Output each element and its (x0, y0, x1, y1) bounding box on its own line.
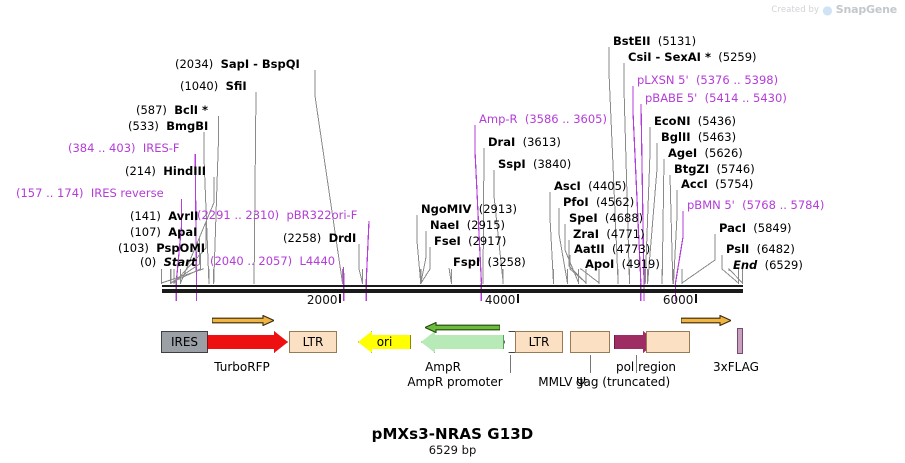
feature-name: SpeI (569, 211, 598, 225)
feature-position: (3840) (533, 157, 571, 171)
arrow-glyph-icon (212, 316, 274, 326)
enzyme-leader-line (674, 190, 677, 283)
enzyme-label-csii-sexai[interactable]: CsiI - SexAI * (5259) (628, 51, 757, 64)
ruler-line-upper (162, 285, 743, 287)
feature-name: HindIII (163, 164, 206, 178)
enzyme-leader-line (421, 231, 426, 283)
direction-arrow-right (681, 311, 731, 322)
feature-position: (5259) (718, 50, 756, 64)
feature-position: (587) (136, 103, 167, 117)
enzyme-leader-line (670, 175, 673, 283)
feature-ltr-right[interactable]: LTR (515, 331, 563, 353)
feature-name: PfoI (563, 195, 589, 209)
enzyme-label-hindiii[interactable]: (214) HindIII (125, 165, 206, 178)
enzyme-leader-line (315, 70, 343, 283)
feature-caption-connector (510, 355, 511, 373)
feature-name: IRES-F (143, 141, 180, 155)
ruler-tick (695, 294, 697, 303)
enzyme-label-asci[interactable]: AscI (4405) (554, 180, 626, 193)
feature-caption-ampr: AmpR (383, 360, 503, 374)
feature-name: AgeI (668, 146, 697, 160)
feature-position: (157 .. 174) (16, 186, 84, 200)
feature-name: pBMN 5' (687, 198, 735, 212)
enzyme-label-spei[interactable]: SpeI (4688) (569, 212, 643, 225)
primer-label-pbabe-5[interactable]: pBABE 5' (5414 .. 5430) (645, 92, 787, 105)
feature-position: (533) (128, 119, 159, 133)
feature-name: BtgZI (674, 162, 709, 176)
enzyme-label-avrii[interactable]: (141) AvrII (130, 210, 198, 223)
feature-ires[interactable]: IRES (161, 331, 208, 353)
feature-position: (2915) (467, 218, 505, 232)
feature-name: L4440 (299, 254, 335, 268)
primer-leader-line (366, 221, 369, 283)
feature-name: pLXSN 5' (637, 73, 689, 87)
enzyme-leader-line (559, 208, 567, 283)
feature-position: (384 .. 403) (68, 141, 136, 155)
page-title: pMXs3-NRAS G13D (0, 425, 905, 443)
feature-position: (214) (125, 164, 156, 178)
feature-name: ZraI (573, 227, 599, 241)
feature-position: (141) (130, 209, 161, 223)
feature-name: Amp-R (479, 112, 518, 126)
feature-name: SapI - BspQI (221, 57, 300, 71)
enzyme-label-start[interactable]: (0) Start (140, 256, 196, 269)
feature-position: (5768 .. 5784) (742, 198, 824, 212)
enzyme-leader-line (662, 159, 664, 283)
feature-3xflag[interactable] (737, 328, 743, 354)
enzyme-label-econi[interactable]: EcoNI (5436) (654, 115, 736, 128)
enzyme-leader-line (359, 244, 362, 283)
feature-position: (5746) (716, 162, 754, 176)
feature-caption-turborfp: TurboRFP (182, 360, 302, 374)
feature-position: (103) (118, 241, 149, 255)
feature-position: (2291 .. 2310) (197, 208, 279, 222)
enzyme-label-bcli[interactable]: (587) BclI * (136, 104, 208, 117)
feature-position: (3586 .. 3605) (525, 112, 607, 126)
enzyme-label-end[interactable]: End (6529) (733, 259, 803, 272)
enzyme-label-paci[interactable]: PacI (5849) (719, 222, 792, 235)
feature-name: BstEII (613, 34, 651, 48)
feature-name: Start (164, 255, 197, 269)
feature-position: (2913) (479, 202, 517, 216)
enzyme-label-apoi[interactable]: ApoI (4919) (585, 258, 660, 271)
feature-name: PslI (726, 242, 749, 256)
feature-position: (6482) (757, 242, 795, 256)
enzyme-label-acci[interactable]: AccI (5754) (681, 178, 753, 191)
feature-inline-label: IRES (171, 335, 198, 349)
enzyme-label-aatii[interactable]: AatII (4773) (574, 243, 650, 256)
feature-position: (5414 .. 5430) (705, 91, 787, 105)
enzyme-label-agei[interactable]: AgeI (5626) (668, 147, 743, 160)
enzyme-label-sfii[interactable]: (1040) SfiI (180, 80, 247, 93)
arrow-glyph-icon (681, 316, 731, 326)
enzyme-label-drdi[interactable]: (2258) DrdI (283, 232, 356, 245)
primer-label-ires-f[interactable]: (384 .. 403) IRES-F (68, 142, 180, 155)
enzyme-label-apai[interactable]: (107) ApaI (130, 226, 197, 239)
ruler-tick-label: 4000 (465, 293, 515, 307)
enzyme-label-drai[interactable]: DraI (3613) (488, 136, 561, 149)
enzyme-label-bsteii[interactable]: BstEII (5131) (613, 35, 696, 48)
feature-name: BclI * (174, 103, 208, 117)
feature-name: ApoI (585, 257, 614, 271)
feature-name: IRES reverse (91, 186, 164, 200)
feature-name: PacI (719, 221, 746, 235)
feature-position: (2040 .. 2057) (210, 254, 292, 268)
feature-name: DrdI (329, 231, 357, 245)
feature-name: AccI (681, 177, 708, 191)
feature-position: (5376 .. 5398) (696, 73, 778, 87)
enzyme-label-psli[interactable]: PslI (6482) (726, 243, 795, 256)
feature-position: (5754) (715, 177, 753, 191)
enzyme-leader-line (550, 192, 553, 283)
enzyme-label-naei[interactable]: NaeI (2915) (430, 219, 505, 232)
feature-name: BmgBI (166, 119, 208, 133)
enzyme-label-bglii[interactable]: BglII (5463) (661, 131, 736, 144)
feature-name: FseI (434, 234, 461, 248)
feature-position: (0) (140, 255, 156, 269)
enzyme-label-fspi[interactable]: FspI (3258) (453, 256, 526, 269)
feature-position: (4771) (606, 227, 644, 241)
direction-arrow-right (212, 311, 274, 322)
feature-name: AvrII (168, 209, 198, 223)
enzyme-label-pfoi[interactable]: PfoI (4562) (563, 196, 634, 209)
feature-position: (4773) (612, 242, 650, 256)
primer-label-l4440[interactable]: (2040 .. 2057) L4440 (210, 255, 335, 268)
primer-label-pbr322ori-f[interactable]: (2291 .. 2310) pBR322ori-F (197, 209, 357, 222)
feature-position: (4405) (588, 179, 626, 193)
feature-name: AatII (574, 242, 605, 256)
feature-caption-gag-truncated: gag (truncated) (563, 375, 683, 389)
feature-inline-label: LTR (529, 335, 550, 349)
feature-name: SfiI (226, 79, 247, 93)
feature-pol-region[interactable] (646, 331, 690, 353)
feature-name: ApaI (168, 225, 197, 239)
feature-position: (2917) (468, 234, 506, 248)
ruler-tick-label: 2000 (287, 293, 337, 307)
feature-name: BglII (661, 130, 691, 144)
feature-name: End (733, 258, 757, 272)
primer-label-amp-r[interactable]: Amp-R (3586 .. 3605) (479, 113, 607, 126)
direction-arrow-left (425, 318, 500, 329)
feature-name: CsiI - SexAI * (628, 50, 711, 64)
enzyme-label-bmgbi[interactable]: (533) BmgBI (128, 120, 208, 133)
feature-caption-ampr-promoter: AmpR promoter (395, 375, 515, 389)
feature-name: DraI (488, 135, 515, 149)
arrow-glyph-icon (425, 323, 500, 333)
feature-position: (3613) (523, 135, 561, 149)
feature-position: (5849) (753, 221, 791, 235)
feature-name: FspI (453, 255, 480, 269)
feature-position: (5463) (698, 130, 736, 144)
primer-label-ires-reverse[interactable]: (157 .. 174) IRES reverse (16, 187, 164, 200)
enzyme-label-sapi-bspqi[interactable]: (2034) SapI - BspQI (175, 58, 300, 71)
enzyme-label-ngomiv[interactable]: NgoMIV (2913) (421, 203, 517, 216)
feature-position: (4688) (605, 211, 643, 225)
feature-name: pBR322ori-F (286, 208, 357, 222)
feature-position: (4562) (596, 195, 634, 209)
enzyme-label-fsei[interactable]: FseI (2917) (434, 235, 506, 248)
ruler-tick (339, 294, 341, 303)
ruler-tick (517, 294, 519, 303)
enzyme-label-pspomi[interactable]: (103) PspOMI (118, 242, 205, 255)
feature-position: (2034) (175, 57, 213, 71)
primer-label-pbmn-5[interactable]: pBMN 5' (5768 .. 5784) (687, 199, 824, 212)
feature-position: (3258) (488, 255, 526, 269)
enzyme-leader-line (682, 234, 715, 283)
feature-caption-3xflag: 3xFLAG (676, 360, 796, 374)
feature-name: EcoNI (654, 114, 690, 128)
feature-name: NaeI (430, 218, 459, 232)
feature-position: (5626) (705, 146, 743, 160)
feature-position: (6529) (765, 258, 803, 272)
plasmid-map-canvas: Created by ● SnapGene (2034) SapI - BspQ… (0, 0, 905, 463)
feature-inline-label: LTR (303, 335, 324, 349)
feature-position: (5436) (698, 114, 736, 128)
primer-label-plxsn-5[interactable]: pLXSN 5' (5376 .. 5398) (637, 74, 778, 87)
feature-name: pBABE 5' (645, 91, 697, 105)
feature-mmlv-psi[interactable] (570, 331, 610, 353)
enzyme-label-sspi[interactable]: SspI (3840) (498, 158, 571, 171)
page-subtitle: 6529 bp (0, 443, 905, 457)
enzyme-label-btgzi[interactable]: BtgZI (5746) (674, 163, 755, 176)
enzyme-leader-line (417, 215, 421, 283)
feature-name: AscI (554, 179, 581, 193)
feature-position: (1040) (180, 79, 218, 93)
feature-name: PspOMI (156, 241, 205, 255)
feature-position: (4919) (622, 257, 660, 271)
feature-position: (107) (130, 225, 161, 239)
feature-ltr-left[interactable]: LTR (289, 331, 337, 353)
feature-inline-label: ori (377, 335, 393, 349)
feature-name: SspI (498, 157, 526, 171)
enzyme-label-zrai[interactable]: ZraI (4771) (573, 228, 645, 241)
feature-position: (5131) (658, 34, 696, 48)
feature-position: (2258) (283, 231, 321, 245)
feature-name: NgoMIV (421, 202, 471, 216)
ruler-tick-label: 6000 (643, 293, 693, 307)
